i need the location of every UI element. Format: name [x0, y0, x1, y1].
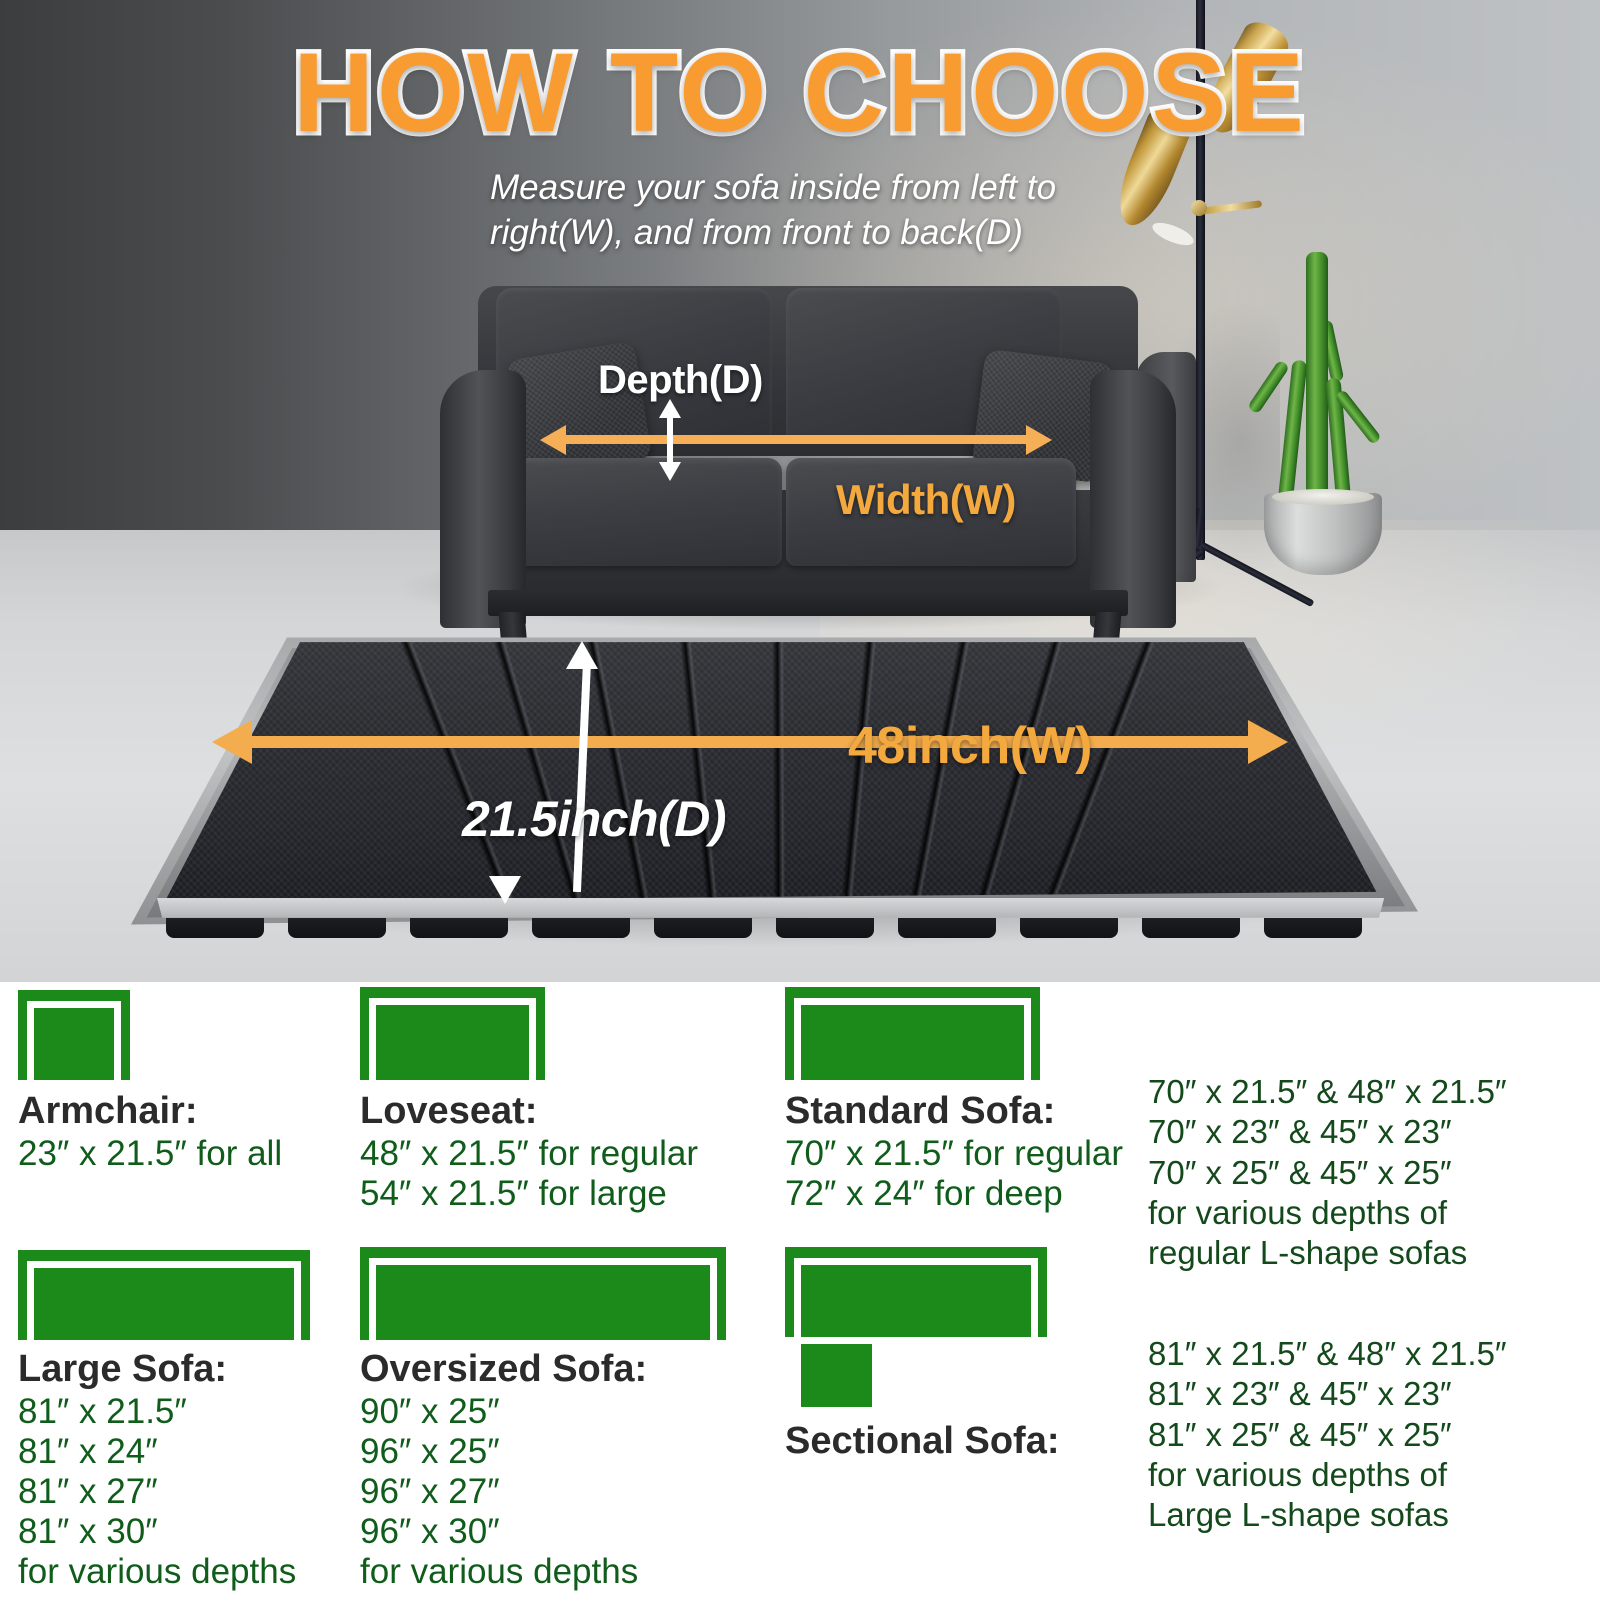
mat-depth-arrowhead-down [489, 876, 521, 904]
mat-channel-seam [395, 638, 520, 914]
note-line: 81″ x 23″ & 45″ x 23″ [1148, 1374, 1507, 1414]
size-card-title: Armchair: [18, 1090, 198, 1133]
size-card-title: Large Sofa: [18, 1348, 227, 1391]
standard-sofa-icon [785, 987, 1040, 1080]
sofa-cushion-shape [881, 1265, 952, 1337]
size-card-dimensions: 81″ x 21.5″81″ x 24″81″ x 27″81″ x 30″fo… [18, 1392, 296, 1591]
dimension-line: 96″ x 30″ [360, 1512, 638, 1552]
mat-front-tab [1264, 918, 1362, 938]
mat-channel-seam [678, 638, 721, 914]
mat-width-arrowhead-right [1248, 720, 1288, 764]
note-line: for various depths of [1148, 1455, 1507, 1495]
sofa-depth-label: Depth(D) [598, 358, 763, 403]
sofa-cushion-shape [124, 1268, 205, 1340]
cactus-main-stem [1306, 252, 1328, 502]
mat-channel-seam [970, 638, 1067, 914]
sofa-cushion-shape [457, 1005, 529, 1080]
size-card-title: Standard Sofa: [785, 1090, 1055, 1133]
mat-front-tab [288, 918, 386, 938]
note-line: 81″ x 25″ & 45″ x 25″ [1148, 1415, 1507, 1455]
dimension-line: 23″ x 21.5″ for all [18, 1134, 282, 1174]
seat-cushion-pad [118, 636, 1418, 936]
mat-front-tabs [118, 918, 1418, 942]
large-l-shape-note: 81″ x 21.5″ & 48″ x 21.5″81″ x 23″ & 45″… [1148, 1334, 1507, 1535]
sofa-base-plinth [488, 590, 1128, 616]
sofa-cushion-shape [801, 1265, 872, 1337]
size-card-title: Sectional Sofa: [785, 1420, 1060, 1463]
sofa-cushion-shape [376, 1265, 453, 1340]
lamp-joint [1191, 200, 1207, 216]
dimension-line: 81″ x 21.5″ [18, 1392, 296, 1432]
note-line: 70″ x 21.5″ & 48″ x 21.5″ [1148, 1072, 1507, 1112]
dimension-line: 81″ x 24″ [18, 1432, 296, 1472]
sofa-cushion-shape [801, 1005, 869, 1080]
mat-depth-label: 21.5inch(D) [462, 790, 726, 848]
regular-l-shape-note: 70″ x 21.5″ & 48″ x 21.5″70″ x 23″ & 45″… [1148, 1072, 1507, 1273]
dimension-line: 96″ x 25″ [360, 1432, 638, 1472]
size-card-dimensions: 23″ x 21.5″ for all [18, 1134, 282, 1174]
sofa-cushion-shape [633, 1265, 710, 1340]
sofa-cushion-shape [213, 1268, 294, 1340]
mat-front-tab [1142, 918, 1240, 938]
mat-front-tab [410, 918, 508, 938]
page-title: HOW TO CHOOSE [0, 28, 1600, 157]
mat-front-tab [654, 918, 752, 938]
dimension-line: 96″ x 27″ [360, 1472, 638, 1512]
dimension-line: 90″ x 25″ [360, 1392, 638, 1432]
mat-quilted-surface [118, 638, 1418, 914]
dimension-line: 81″ x 27″ [18, 1472, 296, 1512]
note-line: 70″ x 25″ & 45″ x 25″ [1148, 1153, 1507, 1193]
infographic-canvas: Depth(D) Width(W) 48inch(W) 21.5inch(D) … [0, 0, 1600, 1600]
size-guide-panel: Armchair:23″ x 21.5″ for allLoveseat:48″… [0, 982, 1600, 1600]
note-line: for various depths of [1148, 1193, 1507, 1233]
sofa-cushion-shape [878, 1005, 946, 1080]
dimension-line: 48″ x 21.5″ for regular [360, 1134, 698, 1174]
sofa-chaise-shape [801, 1344, 872, 1407]
sectional-sofa-icon [785, 1247, 1047, 1407]
sofa-cushion-shape [960, 1265, 1031, 1337]
dimension-line: 70″ x 21.5″ for regular [785, 1134, 1123, 1174]
size-card-dimensions: 48″ x 21.5″ for regular54″ x 21.5″ for l… [360, 1134, 698, 1214]
note-line: 81″ x 21.5″ & 48″ x 21.5″ [1148, 1334, 1507, 1374]
sofa-cushion-shape [376, 1005, 448, 1080]
lifestyle-photo: Depth(D) Width(W) 48inch(W) 21.5inch(D) … [0, 0, 1600, 982]
sofa-depth-arrowhead-down [659, 462, 681, 481]
mat-front-tab [1020, 918, 1118, 938]
note-line: regular L-shape sofas [1148, 1233, 1507, 1273]
mat-width-arrowhead-left [212, 720, 252, 764]
mat-channel-seam [583, 638, 655, 914]
oversized-sofa-icon [360, 1247, 726, 1340]
size-card-dimensions: 90″ x 25″96″ x 25″96″ x 27″96″ x 30″for … [360, 1392, 638, 1591]
mat-front-tab [776, 918, 874, 938]
sofa-cushion-shape [462, 1265, 539, 1340]
note-line: Large L-shape sofas [1148, 1495, 1507, 1535]
mat-channel-seam [772, 638, 785, 914]
sofa-cushion-shape [956, 1005, 1024, 1080]
mat-width-label: 48inch(W) [848, 716, 1092, 776]
dimension-line: for various depths [360, 1552, 638, 1592]
sofa-width-arrowhead-left [540, 425, 566, 455]
armchair-icon [18, 990, 130, 1080]
sofa-width-label: Width(W) [836, 476, 1016, 524]
dimension-line: 81″ x 30″ [18, 1512, 296, 1552]
page-subtitle: Measure your sofa inside from left to ri… [490, 166, 1150, 256]
dimension-line: 72″ x 24″ for deep [785, 1174, 1123, 1214]
sofa-cushion-shape [548, 1265, 625, 1340]
note-line: 70″ x 23″ & 45″ x 23″ [1148, 1112, 1507, 1152]
sofa-width-arrow-line [566, 435, 1026, 444]
mat-front-tab [166, 918, 264, 938]
mat-channel-seam [903, 638, 972, 914]
mat-front-tab [532, 918, 630, 938]
mat-depth-arrowhead-up [566, 641, 598, 669]
size-card-title: Loveseat: [360, 1090, 537, 1133]
mat-front-tab [898, 918, 996, 938]
sofa-cushion-shape [34, 1268, 115, 1340]
size-card-title: Oversized Sofa: [360, 1348, 647, 1391]
sofa-depth-arrow-line [667, 415, 673, 467]
loveseat-icon [360, 987, 545, 1080]
mat-width-arrow-line [248, 736, 1272, 748]
size-card-dimensions: 70″ x 21.5″ for regular72″ x 24″ for dee… [785, 1134, 1123, 1214]
sofa-seat-cushion [492, 458, 782, 566]
mat-channel-seam [1039, 638, 1161, 914]
dimension-line: for various depths [18, 1552, 296, 1592]
sofa-width-arrowhead-right [1026, 425, 1052, 455]
dimension-line: 54″ x 21.5″ for large [360, 1174, 698, 1214]
large-sofa-icon [18, 1250, 310, 1340]
mat-channel-seam [838, 638, 878, 914]
pot-gravel [1272, 489, 1374, 505]
sofa-cushion-shape [34, 1008, 114, 1080]
